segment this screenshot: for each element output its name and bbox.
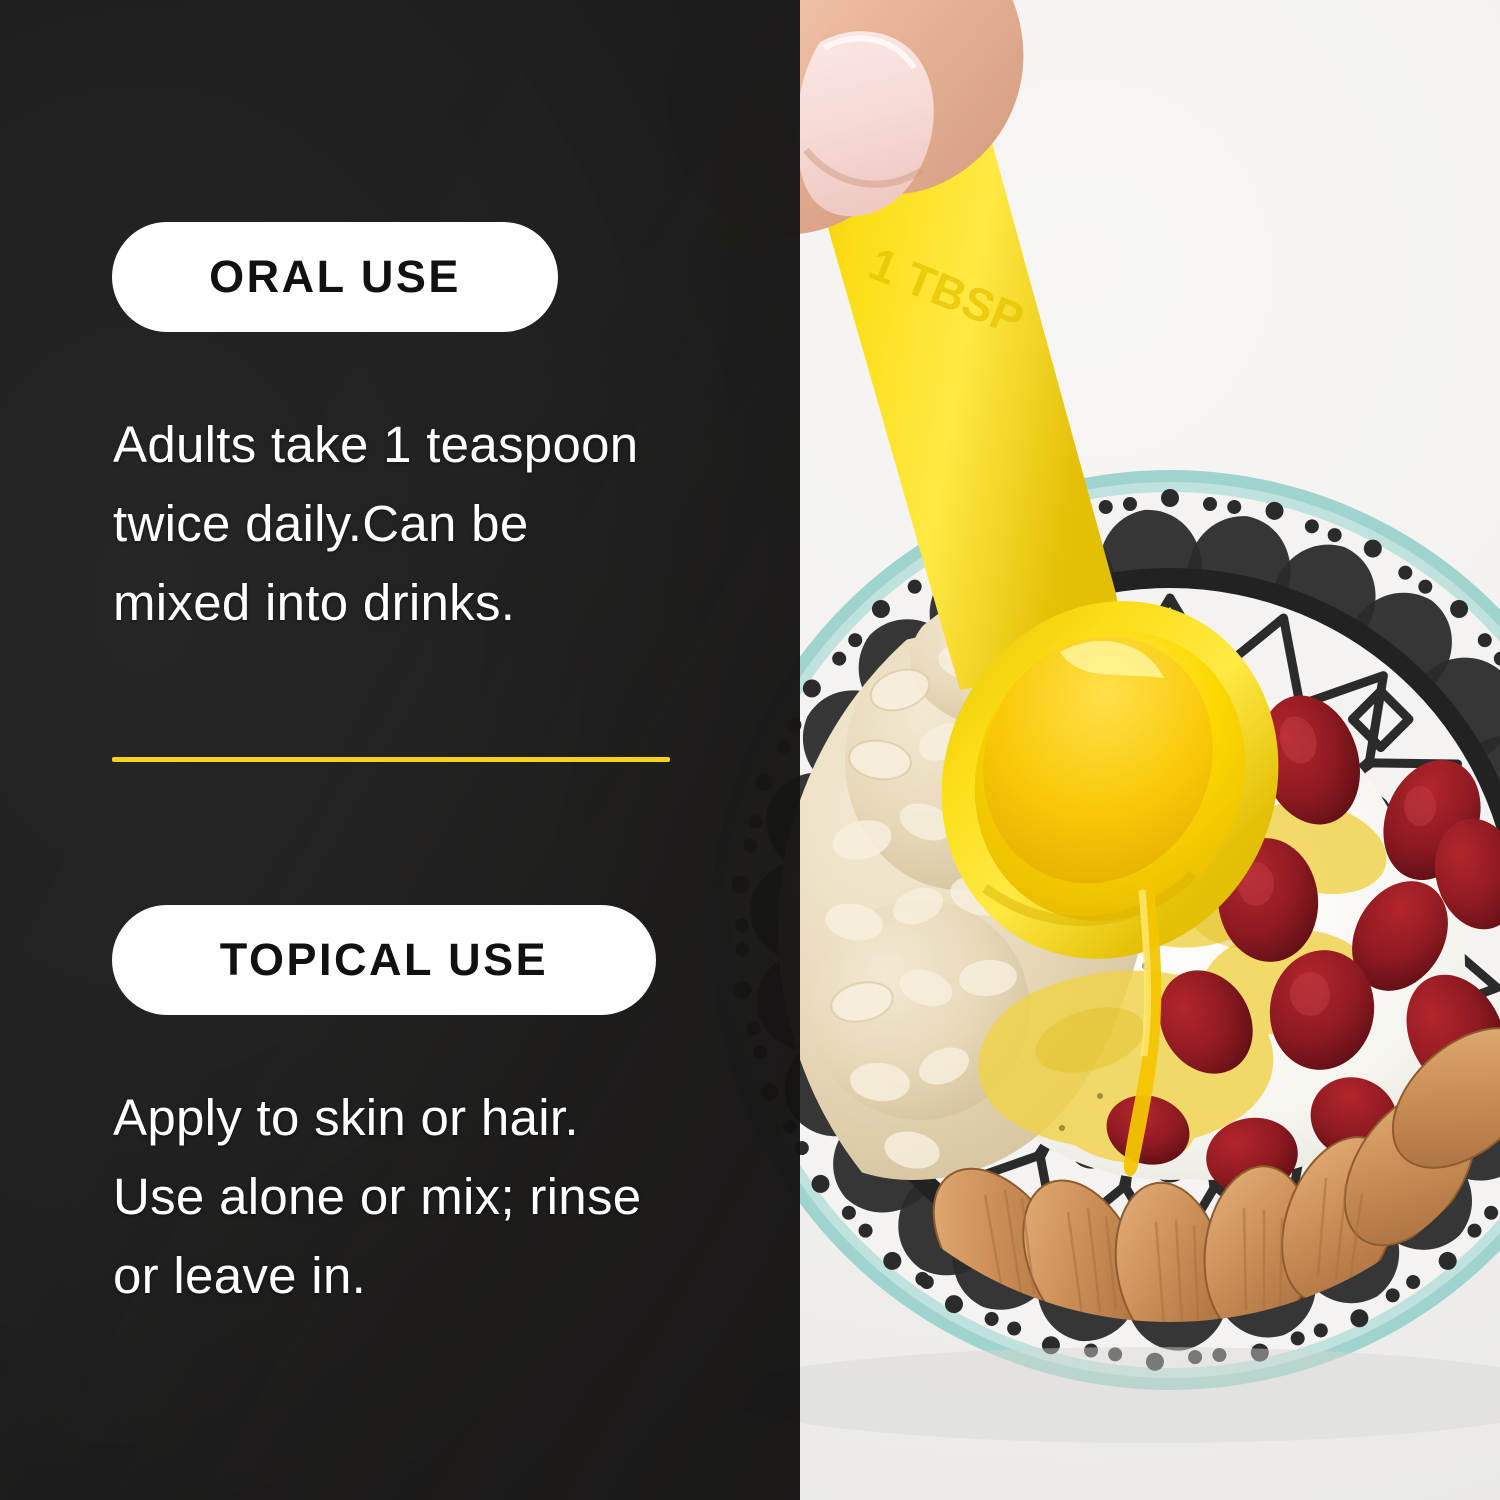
oral-use-description: Adults take 1 teaspoon twice daily.Can b… <box>113 405 773 642</box>
instructions-content: ORAL USE Adults take 1 teaspoon twice da… <box>0 0 800 1500</box>
badge-topical-use-label: TOPICAL USE <box>220 934 548 986</box>
topical-line-2: Use alone or mix; rinse <box>113 1157 793 1236</box>
badge-topical-use: TOPICAL USE <box>112 905 656 1015</box>
topical-line-3: or leave in. <box>113 1236 793 1315</box>
promo-graphic: 1 TBSP ORAL USE <box>0 0 1500 1500</box>
oral-line-2: twice daily.Can be <box>113 484 773 563</box>
oral-line-3: mixed into drinks. <box>113 563 773 642</box>
oral-line-1: Adults take 1 teaspoon <box>113 405 773 484</box>
section-divider <box>112 757 670 762</box>
topical-use-description: Apply to skin or hair. Use alone or mix;… <box>113 1078 793 1315</box>
badge-oral-use-label: ORAL USE <box>209 251 461 303</box>
topical-line-1: Apply to skin or hair. <box>113 1078 793 1157</box>
badge-oral-use: ORAL USE <box>112 222 558 332</box>
